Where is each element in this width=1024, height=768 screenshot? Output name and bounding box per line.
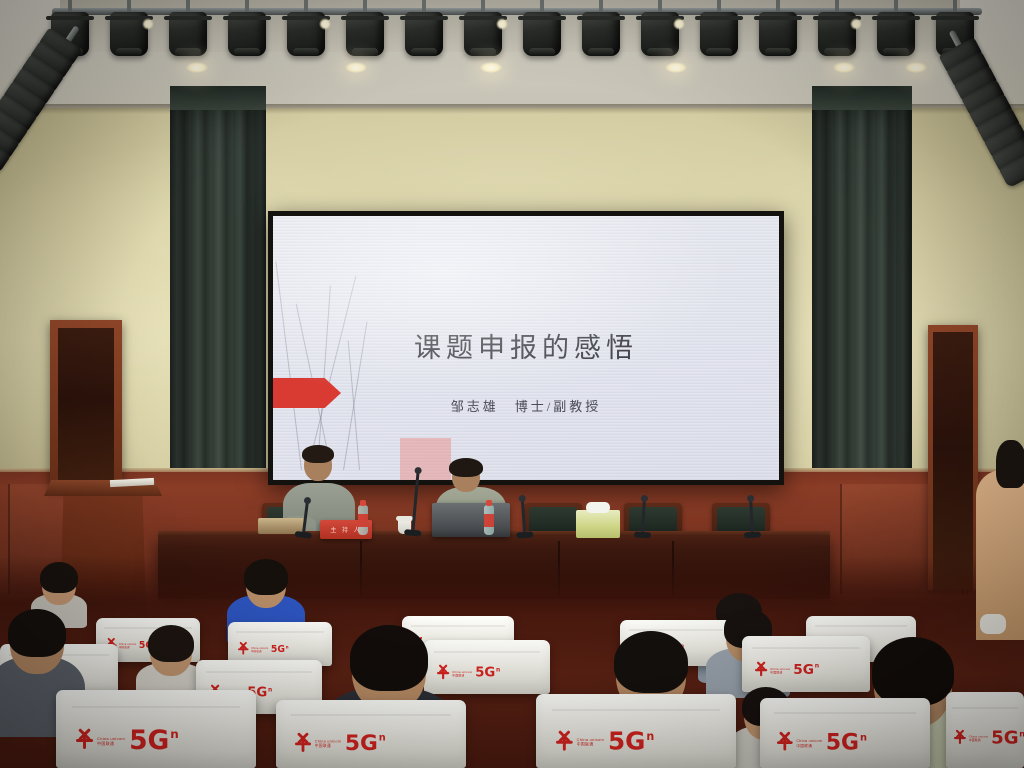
- seat-cover-fold: [434, 651, 540, 653]
- ceiling-spotlight: [225, 6, 269, 58]
- laptop[interactable]: [432, 503, 510, 537]
- five-g-superscript: n: [286, 645, 289, 649]
- audience-seat[interactable]: China unicom中国联通5Gn: [536, 694, 736, 768]
- screen-glare: [273, 216, 779, 480]
- ceiling-spotlight: [107, 6, 151, 58]
- ceiling-spotlight: [638, 6, 682, 58]
- five-g-wordmark: 5Gn: [271, 645, 289, 653]
- ceiling-spotlight: [815, 6, 859, 58]
- china-unicom-5g-logo: China unicom中国联通5Gn: [954, 730, 1024, 746]
- brand-name-cn: 中国联通: [796, 743, 822, 748]
- brand-name: China unicom中国联通: [315, 739, 341, 748]
- five-g-wordmark: 5Gn: [608, 731, 654, 753]
- left-stage-door[interactable]: [58, 328, 114, 488]
- china-unicom-icon: [777, 735, 793, 751]
- ceiling-downlight: [186, 62, 208, 73]
- tissue-box: [576, 510, 620, 538]
- ceiling-spotlight: [697, 6, 741, 58]
- five-g-wordmark: 5Gn: [345, 734, 386, 754]
- audience-seat[interactable]: China unicom中国联通5Gn: [56, 690, 256, 768]
- brand-name-cn: 中国联通: [315, 744, 341, 749]
- seat-cover-fold: [952, 707, 1018, 709]
- five-g-wordmark: 5Gn: [826, 733, 867, 753]
- brand-name: China unicom中国联通: [796, 738, 822, 747]
- seat-cover-fold: [774, 712, 917, 714]
- seat-cover-fold: [552, 709, 720, 711]
- audience-seat[interactable]: China unicom中国联通5Gn: [424, 640, 550, 694]
- brand-name-cn: 中国联通: [119, 645, 136, 648]
- china-unicom-icon: [295, 736, 311, 752]
- audience-seat[interactable]: China unicom中国联通5Gn: [946, 692, 1024, 768]
- seat-cover-fold: [815, 625, 907, 627]
- china-unicom-5g-logo: China unicom中国联通5Gn: [755, 664, 819, 676]
- seat-cover-fold: [752, 647, 860, 649]
- china-unicom-icon: [238, 644, 249, 655]
- ceiling-spotlight: [520, 6, 564, 58]
- five-g-superscript: n: [496, 667, 500, 672]
- five-g-superscript: n: [170, 729, 179, 740]
- left-curtain-header: [170, 86, 266, 110]
- right-stage-door[interactable]: [933, 332, 973, 590]
- audience-seat[interactable]: China unicom中国联通5Gn: [276, 700, 466, 768]
- ceiling-spotlight: [343, 6, 387, 58]
- brand-name: China unicom中国联通: [119, 642, 136, 648]
- brand-name-cn: 中国联通: [577, 742, 605, 747]
- ceiling-spotlight: [166, 6, 210, 58]
- ceiling-downlight: [480, 62, 502, 73]
- five-g-superscript: n: [860, 733, 867, 742]
- china-unicom-5g-logo: China unicom中国联通5Gn: [437, 667, 500, 679]
- china-unicom-5g-logo: China unicom中国联通5Gn: [556, 731, 654, 753]
- ceiling-spotlight: [402, 6, 446, 58]
- seat-cover-fold: [236, 631, 323, 633]
- ceiling-downlight: [905, 62, 927, 73]
- five-g-superscript: n: [268, 687, 272, 692]
- china-unicom-icon: [954, 732, 966, 744]
- brand-name-cn: 中国联通: [452, 673, 472, 677]
- china-unicom-icon: [556, 734, 573, 751]
- china-unicom-icon: [755, 664, 767, 676]
- ceiling-downlight: [833, 62, 855, 73]
- audience-seat[interactable]: China unicom中国联通5Gn: [760, 698, 930, 768]
- brand-name: China unicom中国联通: [97, 736, 125, 746]
- ceiling-downlight: [345, 62, 367, 73]
- ceiling-spotlight: [461, 6, 505, 58]
- ceiling-spotlight: [284, 6, 328, 58]
- seat-cover-fold: [411, 625, 505, 627]
- ceiling-spotlight: [579, 6, 623, 58]
- brand-name: China unicom中国联通: [452, 670, 472, 677]
- five-g-superscript: n: [646, 731, 654, 741]
- brand-name-cn: 中国联通: [251, 649, 268, 652]
- projection-screen-frame: 课题申报的感悟 邹志雄 博士/副教授: [268, 211, 784, 485]
- audience-seat[interactable]: China unicom中国联通5Gn: [742, 636, 870, 692]
- five-g-wordmark: 5Gn: [991, 730, 1024, 746]
- china-unicom-icon: [437, 667, 449, 679]
- seat-cover-fold: [291, 714, 451, 716]
- five-g-wordmark: 5Gn: [793, 664, 819, 676]
- five-g-wordmark: 5Gn: [129, 729, 179, 753]
- china-unicom-icon: [76, 732, 93, 749]
- seat-cover-fold: [206, 671, 312, 673]
- right-curtain-header: [812, 86, 912, 110]
- ceiling-spotlight: [874, 6, 918, 58]
- five-g-superscript: n: [1019, 730, 1024, 737]
- ceiling-spotlight: [756, 6, 800, 58]
- auditorium-photo: 课题申报的感悟 邹志雄 博士/副教授 主 持 人: [0, 0, 1024, 768]
- china-unicom-5g-logo: China unicom中国联通5Gn: [238, 644, 289, 655]
- brand-name-cn: 中国联通: [968, 738, 988, 742]
- projection-screen: 课题申报的感悟 邹志雄 博士/副教授: [273, 216, 779, 480]
- china-unicom-5g-logo: China unicom中国联通5Gn: [76, 729, 179, 753]
- brand-name: China unicom中国联通: [770, 667, 790, 674]
- brand-name-cn: 中国联通: [770, 670, 790, 674]
- five-g-superscript: n: [379, 734, 386, 743]
- ceiling-downlight: [665, 62, 687, 73]
- brand-name: China unicom中国联通: [251, 646, 268, 652]
- brand-name: China unicom中国联通: [968, 735, 988, 742]
- seat-cover-fold: [72, 706, 240, 708]
- brand-name-cn: 中国联通: [97, 741, 125, 746]
- water-bottle: [484, 505, 494, 535]
- brand-name: China unicom中国联通: [577, 737, 605, 747]
- five-g-wordmark: 5Gn: [475, 667, 500, 679]
- water-bottle: [358, 505, 368, 535]
- five-g-superscript: n: [815, 664, 819, 670]
- china-unicom-5g-logo: China unicom中国联通5Gn: [295, 734, 386, 754]
- china-unicom-5g-logo: China unicom中国联通5Gn: [777, 733, 867, 753]
